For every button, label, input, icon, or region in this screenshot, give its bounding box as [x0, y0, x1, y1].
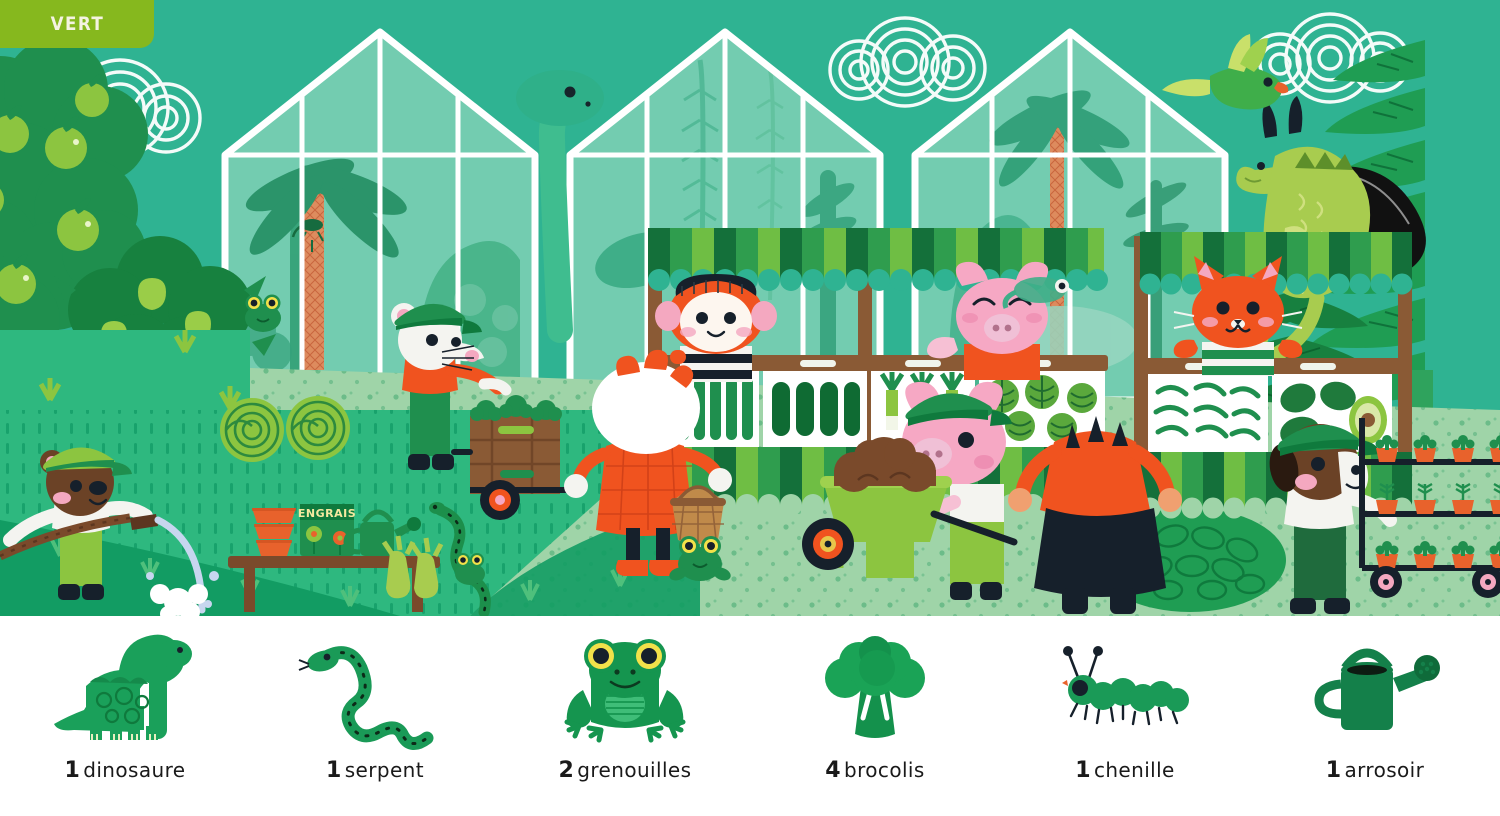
- legend-label: 1serpent: [326, 758, 424, 783]
- frog-icon: [565, 634, 685, 744]
- watering-can-icon: [1305, 634, 1445, 744]
- snake-icon: [305, 634, 445, 744]
- color-badge: VERT: [0, 0, 154, 48]
- broccoli-icon: [815, 634, 935, 744]
- caterpillar-icon: [1055, 634, 1195, 744]
- legend-label: 1dinosaure: [65, 758, 186, 783]
- legend-label: 1chenille: [1075, 758, 1175, 783]
- page-root: ENGRAIS: [0, 0, 1500, 816]
- legend-item-serpent[interactable]: 1serpent: [250, 616, 500, 816]
- legend-item-grenouilles[interactable]: 2grenouilles: [500, 616, 750, 816]
- dinosaur-icon: [50, 634, 200, 744]
- legend-label: 1arrosoir: [1326, 758, 1425, 783]
- legend-label: 4brocolis: [825, 758, 924, 783]
- find-list: 1dinosaure 1serpent: [0, 616, 1500, 816]
- color-badge-label: VERT: [50, 13, 104, 35]
- illustration-scene: ENGRAIS: [0, 0, 1500, 616]
- legend-item-arrosoir[interactable]: 1arrosoir: [1250, 616, 1500, 816]
- fertilizer-label: ENGRAIS: [298, 507, 356, 520]
- scene-artwork: ENGRAIS: [0, 0, 1500, 616]
- legend-label: 2grenouilles: [559, 758, 692, 783]
- legend-item-brocolis[interactable]: 4brocolis: [750, 616, 1000, 816]
- legend-item-chenille[interactable]: 1chenille: [1000, 616, 1250, 816]
- legend-item-dinosaure[interactable]: 1dinosaure: [0, 616, 250, 816]
